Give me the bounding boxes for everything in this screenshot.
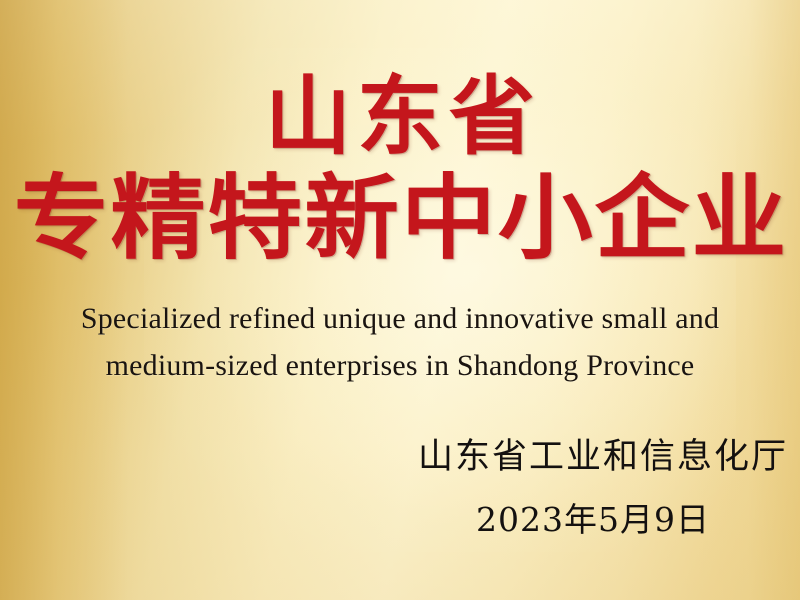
headline-line-province: 山东省	[0, 74, 800, 160]
issue-date: 2023年5月9日	[418, 500, 768, 540]
issuing-authority: 山东省工业和信息化厅	[418, 436, 768, 478]
headline-line-award-title: 专精特新中小企业	[0, 172, 800, 264]
subtitle-line-1: Specialized refined unique and innovativ…	[0, 296, 800, 343]
headline-block: 山东省 专精特新中小企业	[0, 74, 800, 264]
plaque-content: 山东省 专精特新中小企业 Specialized refined unique …	[0, 0, 800, 600]
subtitle-line-2: medium-sized enterprises in Shandong Pro…	[0, 343, 800, 390]
subtitle-block: Specialized refined unique and innovativ…	[0, 296, 800, 389]
signature-block: 山东省工业和信息化厅 2023年5月9日	[418, 436, 768, 540]
award-plaque: 山东省 专精特新中小企业 Specialized refined unique …	[0, 0, 800, 600]
